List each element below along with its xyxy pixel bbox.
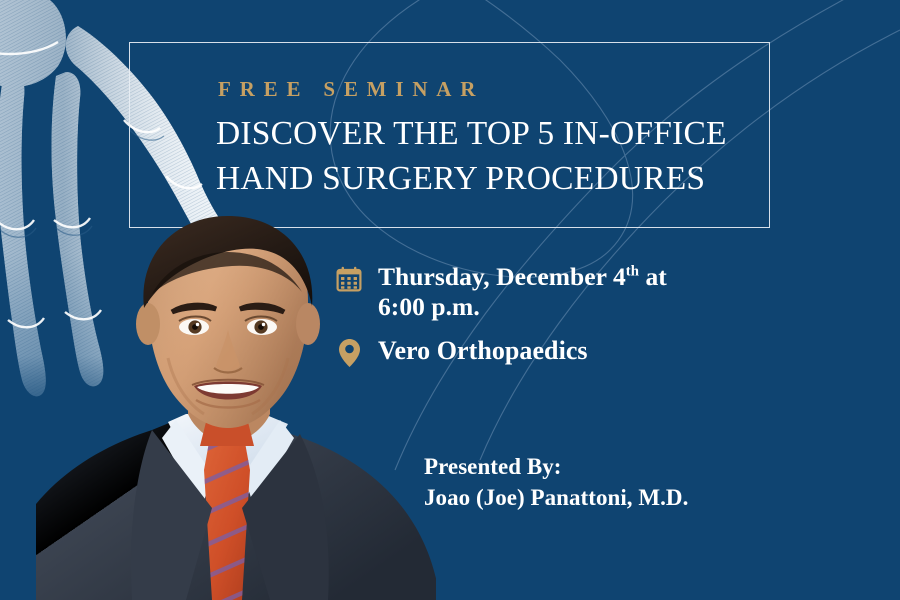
presenter-block: Presented By: Joao (Joe) Panattoni, M.D. [424,452,688,513]
presenter-label: Presented By: [424,452,688,483]
detail-row-location: Vero Orthopaedics [334,336,774,370]
event-time-text: 6:00 p.m. [378,292,480,321]
page-title: DISCOVER THE TOP 5 IN-OFFICE HAND SURGER… [216,112,776,202]
event-details: Thursday, December 4th at 6:00 p.m. Vero… [334,262,774,384]
location-pin-icon [334,336,364,370]
headline-line-2: HAND SURGERY PROCEDURES [216,157,776,202]
calendar-icon [334,262,364,296]
date-ordinal-suffix: th [626,264,639,280]
seminar-flyer: FREE SEMINAR DISCOVER THE TOP 5 IN-OFFIC… [0,0,900,600]
eyebrow-label: FREE SEMINAR [218,79,484,100]
headline-line-1: DISCOVER THE TOP 5 IN-OFFICE [216,112,776,157]
event-date-time: Thursday, December 4th at 6:00 p.m. [378,262,667,322]
detail-row-date: Thursday, December 4th at 6:00 p.m. [334,262,774,322]
presenter-name: Joao (Joe) Panattoni, M.D. [424,483,688,514]
event-location-text: Vero Orthopaedics [378,336,588,366]
event-date-suffix: at [639,262,667,291]
event-date-text: Thursday, December 4 [378,262,626,291]
